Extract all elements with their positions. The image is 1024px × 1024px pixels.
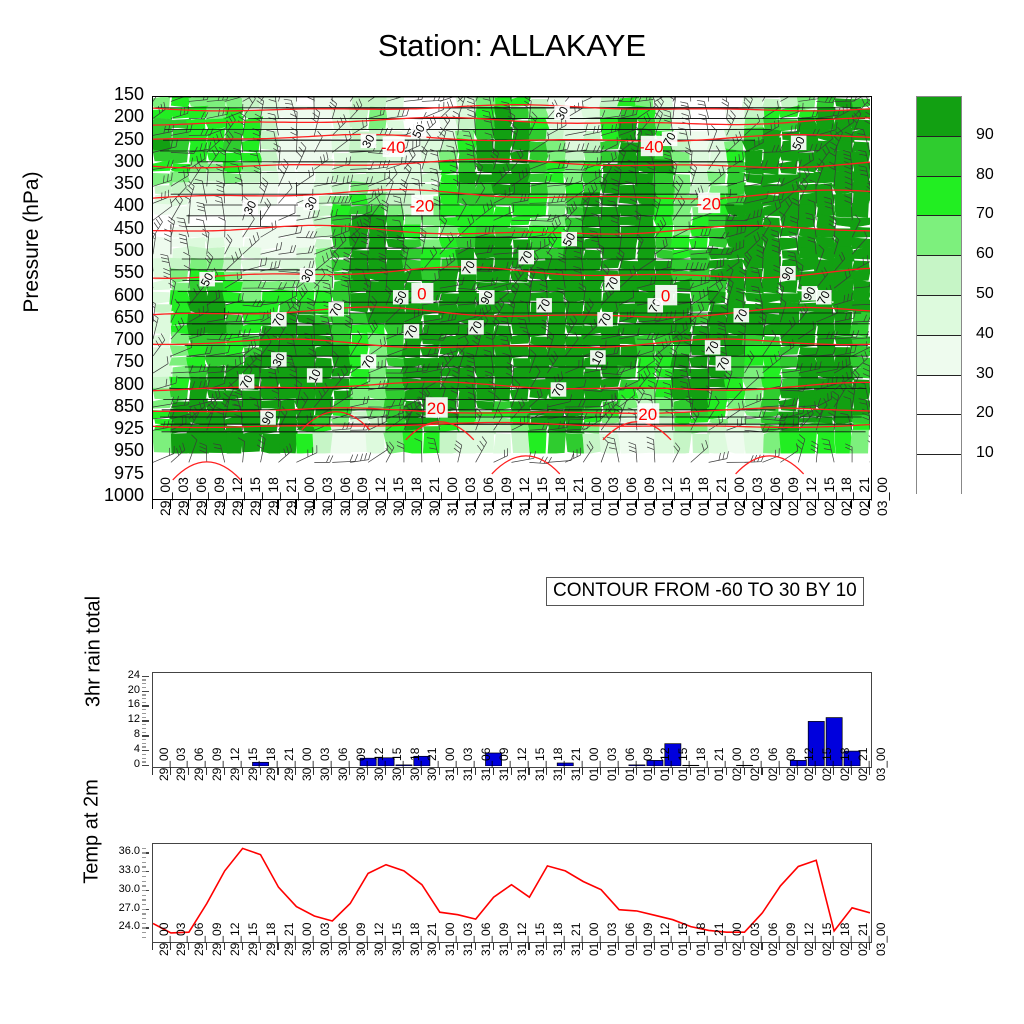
rain-y-axis-ticks: 04812162024 xyxy=(96,672,150,768)
x-axis-label: 31_00 xyxy=(443,748,457,781)
x-axis-label: 01_03 xyxy=(605,477,621,516)
x-axis-label: 31_18 xyxy=(552,477,568,516)
rain-y-tick-label: 24 xyxy=(100,670,140,681)
x-axis-label: 01_09 xyxy=(641,477,657,516)
y-tick-label: 450 xyxy=(84,219,144,237)
rain-y-tick-mark xyxy=(142,691,149,692)
temp-y-tick-label: 27.0 xyxy=(94,903,140,914)
colorbar-cell[interactable] xyxy=(917,97,961,137)
x-axis-label: 01_15 xyxy=(677,477,693,516)
x-axis-label: 30_12 xyxy=(372,748,386,781)
x-axis-label: 02_21 xyxy=(856,477,872,516)
x-axis-label: 31_15 xyxy=(533,748,547,781)
temp-y-tick-minor xyxy=(142,848,146,849)
x-axis-label: 30_12 xyxy=(372,477,388,516)
x-axis-label: 29_15 xyxy=(246,923,260,956)
temperature-line-chart[interactable] xyxy=(152,843,872,943)
x-axis-label: 31_09 xyxy=(497,923,511,956)
y-tick-label: 650 xyxy=(84,308,144,326)
x-axis-label: 30_18 xyxy=(408,477,424,516)
rain-y-tick-label: 0 xyxy=(100,759,140,770)
y-tick-label: 800 xyxy=(84,375,144,393)
colorbar-cell[interactable] xyxy=(917,177,961,217)
y-tick-label: 500 xyxy=(84,241,144,259)
x-axis-label: 30_15 xyxy=(390,477,406,516)
x-axis-label: 31_15 xyxy=(534,477,550,516)
x-axis-label: 02_18 xyxy=(838,477,854,516)
rain-y-tick-label: 16 xyxy=(100,699,140,710)
x-axis-label: 29_09 xyxy=(210,748,224,781)
rain-y-tick-minor xyxy=(142,709,146,710)
x-axis-label: 29_18 xyxy=(264,923,278,956)
x-axis-label: 29_12 xyxy=(228,923,242,956)
rain-y-tick-minor xyxy=(142,698,146,699)
rain-y-tick-minor xyxy=(142,743,146,744)
temp-y-tick-minor xyxy=(142,862,146,863)
temp-y-tick-minor xyxy=(142,890,146,891)
x-axis-label: 03_00 xyxy=(874,923,888,956)
x-axis-label: 29_21 xyxy=(282,923,296,956)
x-axis-label: 30_18 xyxy=(408,748,422,781)
x-axis-label: 02_06 xyxy=(767,477,783,516)
x-axis-label: 30_21 xyxy=(425,748,439,781)
x-axis-label: 01_03 xyxy=(605,923,619,956)
x-axis-label: 29_12 xyxy=(229,477,245,516)
y-tick-label: 250 xyxy=(84,130,144,148)
x-axis-label: 29_18 xyxy=(265,477,281,516)
svg-text:-40: -40 xyxy=(639,137,664,156)
colorbar-cell[interactable] xyxy=(917,256,961,296)
x-axis-label: 01_00 xyxy=(587,748,601,781)
x-axis-label: 02_00 xyxy=(731,477,747,516)
y-tick-label: 200 xyxy=(84,107,144,125)
y-tick-label: 300 xyxy=(84,152,144,170)
colorbar-label: 30 xyxy=(976,365,994,383)
x-axis-label: 31_06 xyxy=(480,477,496,516)
x-axis-label: 29_15 xyxy=(247,477,263,516)
x-axis-label: 01_06 xyxy=(623,477,639,516)
x-axis-label: 02_12 xyxy=(802,923,816,956)
x-axis-label: 29_00 xyxy=(157,748,171,781)
x-axis-label: 02_00 xyxy=(730,923,744,956)
x-axis-label: 31_06 xyxy=(479,748,493,781)
colorbar-cell[interactable] xyxy=(917,137,961,177)
rain-y-tick-minor xyxy=(142,713,146,714)
rain-y-tick-minor xyxy=(142,746,146,747)
x-axis-label: 31_21 xyxy=(569,748,583,781)
x-axis-label: 30_15 xyxy=(390,748,404,781)
x-axis-label: 31_18 xyxy=(551,748,565,781)
temp-y-tick-minor xyxy=(142,927,146,928)
rain-y-tick-minor xyxy=(142,754,146,755)
x-axis-label: 02_00 xyxy=(730,748,744,781)
temp-y-tick-minor xyxy=(142,913,146,914)
x-axis-label: 02_09 xyxy=(784,923,798,956)
x-axis-label: 31_06 xyxy=(479,923,493,956)
x-axis-label: 30_12 xyxy=(372,923,386,956)
y-tick-label: 950 xyxy=(84,441,144,459)
x-axis-label: 01_21 xyxy=(713,477,729,516)
temp-y-tick-minor xyxy=(142,881,146,882)
y-tick-label: 350 xyxy=(84,174,144,192)
x-axis-label: 30_03 xyxy=(318,923,332,956)
humidity-colorbar[interactable] xyxy=(916,96,962,494)
rain-x-tick-mark xyxy=(188,768,189,775)
temp-y-tick-label: 30.0 xyxy=(94,884,140,895)
colorbar-cell[interactable] xyxy=(917,376,961,416)
x-axis-label: 29_12 xyxy=(228,748,242,781)
y-tick-label: 150 xyxy=(84,85,144,103)
temp-y-axis-ticks: 24.027.030.033.036.0 xyxy=(88,843,150,943)
x-axis-label: 31_03 xyxy=(461,748,475,781)
y-tick-label: 700 xyxy=(84,330,144,348)
rain-y-tick-label: 20 xyxy=(100,685,140,696)
x-axis-label: 01_18 xyxy=(694,923,708,956)
x-axis-label: 01_12 xyxy=(659,477,675,516)
rain-y-tick-label: 4 xyxy=(100,744,140,755)
x-axis-label: 30_09 xyxy=(354,477,370,516)
x-axis-label: 29_21 xyxy=(283,477,299,516)
y-tick-label: 975 xyxy=(84,464,144,482)
x-axis-label: 30_03 xyxy=(318,748,332,781)
x-axis-label: 01_12 xyxy=(658,923,672,956)
rain-x-tick-mark xyxy=(152,768,153,775)
temp-y-tick-minor xyxy=(142,876,146,877)
rain-y-tick-minor xyxy=(142,728,146,729)
x-axis-label: 01_06 xyxy=(623,748,637,781)
temp-y-tick-minor xyxy=(142,895,146,896)
svg-text:0: 0 xyxy=(661,287,670,306)
x-axis-label: 31_12 xyxy=(515,923,529,956)
y-tick-label: 600 xyxy=(84,286,144,304)
rain-y-tick-minor xyxy=(142,758,146,759)
x-axis-label: 30_03 xyxy=(319,477,335,516)
rain-y-tick-label: 12 xyxy=(100,714,140,725)
temp-y-tick-minor xyxy=(142,899,146,900)
temp-y-tick-minor xyxy=(142,932,146,933)
main-x-axis-labels: 29_0029_0329_0629_0929_1229_1529_1829_21… xyxy=(152,516,872,582)
x-axis-label: 31_00 xyxy=(443,923,457,956)
x-axis-label: 29_00 xyxy=(157,923,171,956)
temp-x-tick-mark xyxy=(188,943,189,950)
x-axis-label: 30_21 xyxy=(426,477,442,516)
x-axis-label: 31_15 xyxy=(533,923,547,956)
x-axis-label: 01_03 xyxy=(605,748,619,781)
x-axis-label: 29_06 xyxy=(192,923,206,956)
x-axis-label: 02_18 xyxy=(838,923,852,956)
x-axis-label: 02_03 xyxy=(749,477,765,516)
y-tick-label: 850 xyxy=(84,397,144,415)
x-axis-label: 30_06 xyxy=(336,923,350,956)
x-axis-label: 02_06 xyxy=(766,923,780,956)
x-axis-label: 01_00 xyxy=(587,923,601,956)
x-axis-label: 02_15 xyxy=(821,477,837,516)
rain-y-tick-mark xyxy=(142,705,149,706)
x-tick-mark xyxy=(152,500,153,509)
temp-y-tick-label: 33.0 xyxy=(94,865,140,876)
x-axis-label: 29_06 xyxy=(193,477,209,516)
x-axis-label: 01_15 xyxy=(676,748,690,781)
temp-y-tick-minor xyxy=(142,937,146,938)
x-axis-label: 02_15 xyxy=(820,748,834,781)
x-axis-label: 31_03 xyxy=(461,923,475,956)
x-axis-label: 03_00 xyxy=(874,477,890,516)
x-axis-label: 01_06 xyxy=(623,923,637,956)
colorbar-cell[interactable] xyxy=(917,455,961,495)
colorbar-cell[interactable] xyxy=(917,415,961,455)
x-axis-label: 29_15 xyxy=(246,748,260,781)
x-axis-label: 29_03 xyxy=(174,923,188,956)
x-axis-label: 29_03 xyxy=(175,477,191,516)
colorbar-label: 40 xyxy=(976,325,994,343)
x-axis-label: 31_18 xyxy=(551,923,565,956)
x-axis-label: 01_21 xyxy=(712,748,726,781)
x-axis-label: 31_09 xyxy=(498,477,514,516)
rain-y-tick-minor xyxy=(142,717,146,718)
colorbar-label: 70 xyxy=(976,205,994,223)
rain-y-tick-minor xyxy=(142,694,146,695)
rain-y-tick-minor xyxy=(142,732,146,733)
x-axis-label: 30_21 xyxy=(425,923,439,956)
svg-text:20: 20 xyxy=(427,399,446,418)
temp-y-tick-minor xyxy=(142,904,146,905)
rain-y-tick-minor xyxy=(142,702,146,703)
colorbar-label: 10 xyxy=(976,444,994,462)
colorbar-cell[interactable] xyxy=(917,216,961,256)
rain-x-axis-labels: 29_0029_0329_0629_0929_1229_1529_1829_21… xyxy=(152,781,872,841)
svg-text:20: 20 xyxy=(638,405,657,424)
y-tick-label: 925 xyxy=(84,419,144,437)
rain-y-tick-minor xyxy=(142,739,146,740)
x-axis-label: 02_03 xyxy=(748,923,762,956)
x-axis-label: 01_00 xyxy=(588,477,604,516)
x-axis-label: 30_00 xyxy=(300,748,314,781)
rain-y-tick-mark xyxy=(142,676,149,677)
rain-y-tick-minor xyxy=(142,761,146,762)
x-axis-label: 02_12 xyxy=(803,477,819,516)
rain-y-tick-minor xyxy=(142,724,146,725)
x-axis-label: 29_00 xyxy=(157,477,173,516)
rain-y-tick-mark xyxy=(142,720,149,721)
x-axis-label: 30_09 xyxy=(354,748,368,781)
temp-y-tick-label: 36.0 xyxy=(94,846,140,857)
y-tick-label: 750 xyxy=(84,352,144,370)
svg-text:-20: -20 xyxy=(410,196,435,215)
colorbar-cell[interactable] xyxy=(917,336,961,376)
colorbar-label: 50 xyxy=(976,285,994,303)
colorbar-label: 20 xyxy=(976,404,994,422)
x-axis-label: 02_06 xyxy=(766,748,780,781)
colorbar-label: 60 xyxy=(976,245,994,263)
page-title: Station: ALLAKAYE xyxy=(0,28,1024,64)
temp-y-tick-minor xyxy=(142,918,146,919)
x-axis-label: 01_09 xyxy=(641,748,655,781)
x-axis-label: 01_21 xyxy=(712,923,726,956)
x-axis-label: 02_21 xyxy=(856,748,870,781)
x-axis-label: 02_21 xyxy=(856,923,870,956)
x-axis-label: 01_18 xyxy=(695,477,711,516)
x-axis-label: 29_03 xyxy=(174,748,188,781)
y-tick-label: 400 xyxy=(84,196,144,214)
x-axis-label: 02_09 xyxy=(785,477,801,516)
y-tick-label: 550 xyxy=(84,263,144,281)
x-axis-label: 30_00 xyxy=(300,923,314,956)
rain-x-axis-ticks xyxy=(152,768,872,780)
contour-note: CONTOUR FROM -60 TO 30 BY 10 xyxy=(546,577,864,606)
y-tick-label: 1000 xyxy=(84,486,144,504)
x-axis-label: 01_09 xyxy=(641,923,655,956)
rain-y-tick-label: 8 xyxy=(100,729,140,740)
rain-y-tick-minor xyxy=(142,683,146,684)
rain-y-tick-mark xyxy=(142,765,149,766)
temp-y-tick-minor xyxy=(142,852,146,853)
x-axis-label: 02_18 xyxy=(838,748,852,781)
x-axis-label: 31_03 xyxy=(462,477,478,516)
colorbar-label: 90 xyxy=(976,126,994,144)
temp-y-tick-minor xyxy=(142,885,146,886)
temp-y-tick-minor xyxy=(142,857,146,858)
svg-text:0: 0 xyxy=(417,285,426,304)
x-axis-label: 29_09 xyxy=(210,923,224,956)
temp-y-tick-minor xyxy=(142,866,146,867)
temp-y-tick-minor xyxy=(142,909,146,910)
x-axis-label: 01_15 xyxy=(676,923,690,956)
x-axis-label: 31_12 xyxy=(516,477,532,516)
svg-text:-20: -20 xyxy=(696,194,721,213)
x-axis-label: 31_09 xyxy=(497,748,511,781)
rain-y-tick-minor xyxy=(142,687,146,688)
svg-text:-40: -40 xyxy=(381,138,406,157)
rain-bar-chart[interactable] xyxy=(152,672,872,768)
temp-y-tick-minor xyxy=(142,923,146,924)
x-axis-label: 01_18 xyxy=(694,748,708,781)
x-axis-label: 31_00 xyxy=(444,477,460,516)
x-axis-label: 03_00 xyxy=(874,748,888,781)
cross-section-plot[interactable]: 3050307050303050305050907090907070707070… xyxy=(152,96,872,500)
temp-x-tick-mark xyxy=(152,943,153,950)
colorbar-label: 80 xyxy=(976,166,994,184)
x-axis-label: 02_15 xyxy=(820,923,834,956)
temp-y-tick-label: 24.0 xyxy=(94,921,140,932)
x-axis-label: 02_03 xyxy=(748,748,762,781)
x-axis-label: 31_21 xyxy=(570,477,586,516)
x-axis-label: 30_06 xyxy=(337,477,353,516)
x-axis-label: 31_21 xyxy=(569,923,583,956)
main-y-axis-ticks: 1502002503003504004505005506006507007508… xyxy=(82,96,144,500)
x-axis-label: 30_00 xyxy=(301,477,317,516)
x-axis-label: 02_12 xyxy=(802,748,816,781)
temp-y-tick-minor xyxy=(142,871,146,872)
temp-x-axis-ticks xyxy=(152,943,872,955)
rain-y-tick-mark xyxy=(142,735,149,736)
x-axis-label: 31_12 xyxy=(515,748,529,781)
main-y-axis-label: Pressure (hPa) xyxy=(20,92,44,392)
colorbar-cell[interactable] xyxy=(917,296,961,336)
temp-x-axis-labels: 29_0029_0329_0629_0929_1229_1529_1829_21… xyxy=(152,956,872,1016)
rain-y-tick-mark xyxy=(142,750,149,751)
rain-y-tick-minor xyxy=(142,679,146,680)
x-axis-label: 30_09 xyxy=(354,923,368,956)
x-axis-label: 30_06 xyxy=(336,748,350,781)
x-axis-label: 29_06 xyxy=(192,748,206,781)
x-axis-label: 30_18 xyxy=(408,923,422,956)
x-axis-label: 02_09 xyxy=(784,748,798,781)
x-axis-label: 29_21 xyxy=(282,748,296,781)
x-axis-label: 29_18 xyxy=(264,748,278,781)
x-axis-label: 30_15 xyxy=(390,923,404,956)
x-axis-label: 29_09 xyxy=(211,477,227,516)
x-axis-label: 01_12 xyxy=(658,748,672,781)
